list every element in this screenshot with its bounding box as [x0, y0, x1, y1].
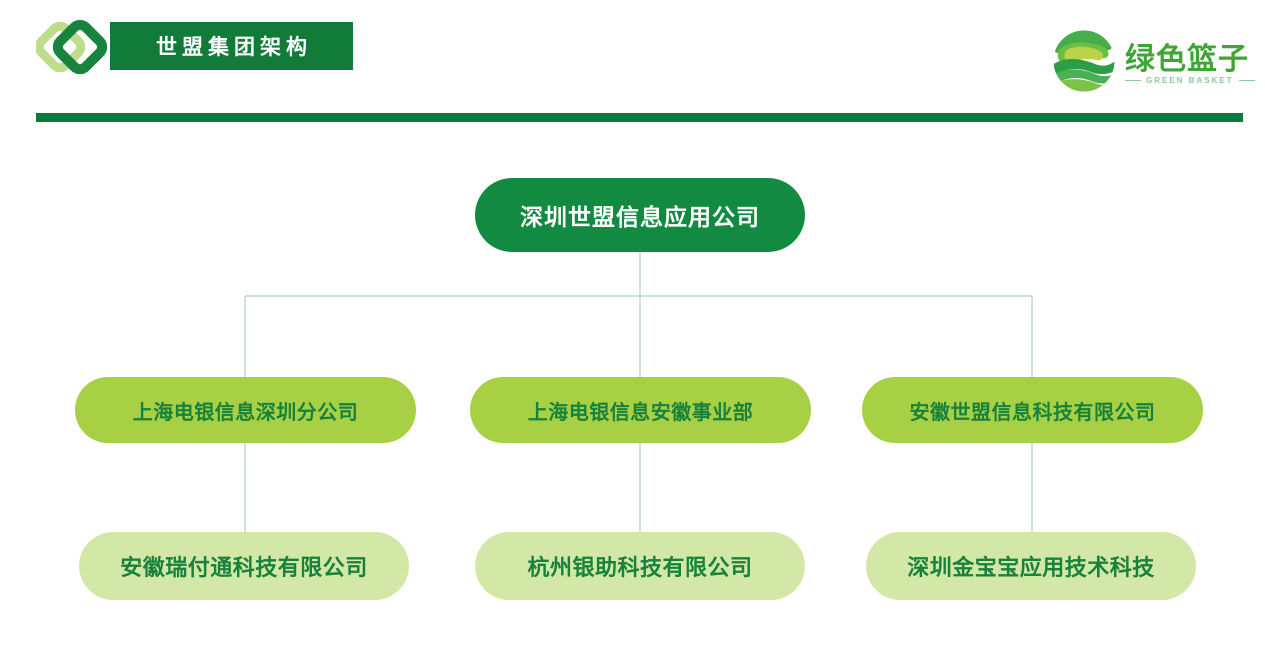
org-node-leaf-3-label: 深圳金宝宝应用技术科技: [907, 550, 1155, 582]
org-node-middle-3-label: 安徽世盟信息科技有限公司: [910, 396, 1156, 425]
org-node-leaf-2-label: 杭州银助科技有限公司: [527, 550, 752, 582]
org-node-middle-3[interactable]: 安徽世盟信息科技有限公司: [862, 377, 1203, 443]
org-chart: 深圳世盟信息应用公司 上海电银信息深圳分公司 上海电银信息安徽事业部 安徽世盟信…: [0, 0, 1265, 651]
org-node-leaf-3[interactable]: 深圳金宝宝应用技术科技: [866, 532, 1196, 600]
org-node-leaf-2[interactable]: 杭州银助科技有限公司: [475, 532, 805, 600]
slide-canvas: 世盟集团架构 绿色篮子 GR: [0, 0, 1265, 651]
org-node-leaf-1[interactable]: 安徽瑞付通科技有限公司: [79, 532, 409, 600]
org-node-middle-2[interactable]: 上海电银信息安徽事业部: [470, 377, 811, 443]
org-node-middle-2-label: 上海电银信息安徽事业部: [528, 396, 754, 425]
org-node-middle-1-label: 上海电银信息深圳分公司: [133, 396, 359, 425]
org-node-root-label: 深圳世盟信息应用公司: [520, 198, 760, 232]
org-node-root[interactable]: 深圳世盟信息应用公司: [475, 178, 805, 252]
org-node-leaf-1-label: 安徽瑞付通科技有限公司: [120, 550, 368, 582]
org-node-middle-1[interactable]: 上海电银信息深圳分公司: [75, 377, 416, 443]
